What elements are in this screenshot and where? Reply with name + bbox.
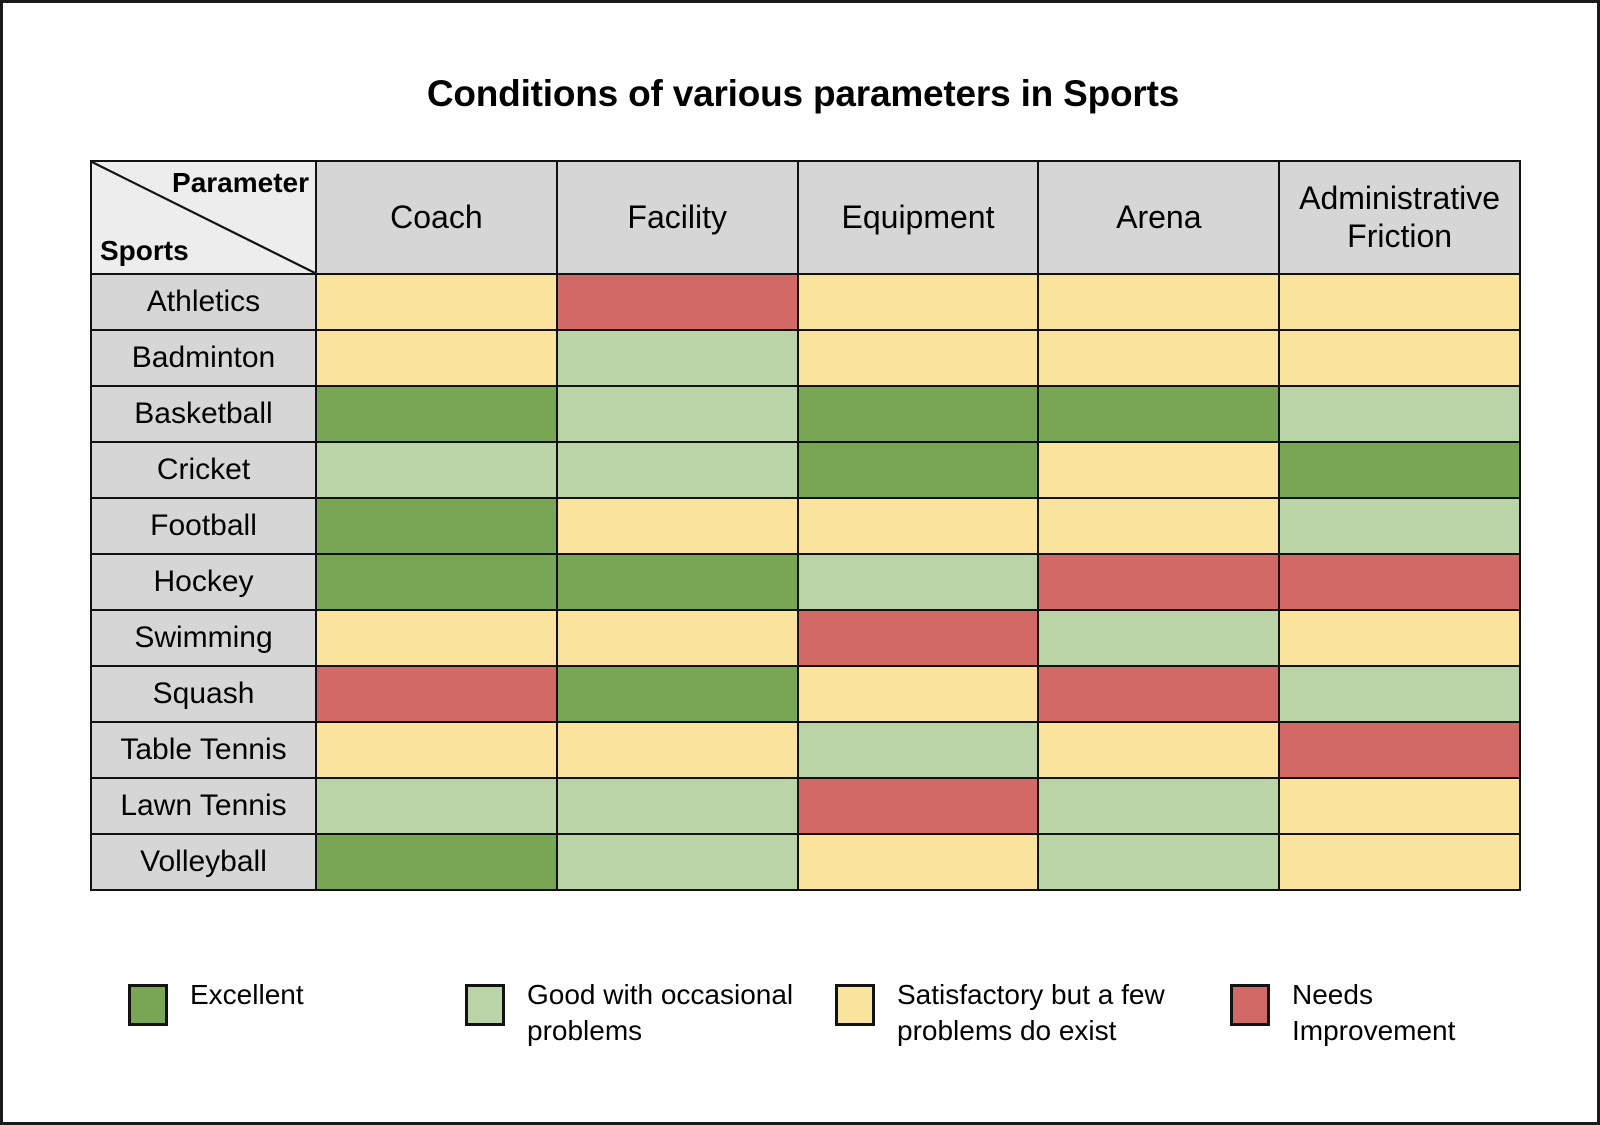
legend-item-satisfactory-but-a-few-problems-do-exist: Satisfactory but a few problems do exist xyxy=(835,963,1195,1049)
cell-cricket-facility xyxy=(557,442,798,498)
conditions-matrix-table: Parameter Sports Coach Facility Equipmen… xyxy=(90,160,1521,891)
legend-swatch-icon xyxy=(835,984,875,1026)
cell-swimming-administrative-friction xyxy=(1279,610,1520,666)
table-row: Badminton xyxy=(91,330,1520,386)
cell-table-tennis-administrative-friction xyxy=(1279,722,1520,778)
cell-swimming-arena xyxy=(1038,610,1279,666)
column-header-equipment: Equipment xyxy=(798,161,1039,274)
cell-hockey-coach xyxy=(316,554,557,610)
cell-athletics-administrative-friction xyxy=(1279,274,1520,330)
legend: ExcellentGood with occasional problemsSa… xyxy=(90,963,1550,1073)
cell-lawn-tennis-equipment xyxy=(798,778,1039,834)
row-header-swimming: Swimming xyxy=(91,610,316,666)
table-row: Table Tennis xyxy=(91,722,1520,778)
legend-item-excellent: Excellent xyxy=(128,963,428,1026)
table-row: Hockey xyxy=(91,554,1520,610)
row-header-football: Football xyxy=(91,498,316,554)
legend-label: Satisfactory but a few problems do exist xyxy=(897,977,1165,1049)
column-axis-label: Parameter xyxy=(172,168,309,197)
cell-hockey-equipment xyxy=(798,554,1039,610)
table-row: Volleyball xyxy=(91,834,1520,890)
cell-football-arena xyxy=(1038,498,1279,554)
cell-table-tennis-coach xyxy=(316,722,557,778)
cell-athletics-equipment xyxy=(798,274,1039,330)
figure-root: Conditions of various parameters in Spor… xyxy=(0,0,1600,1125)
cell-badminton-equipment xyxy=(798,330,1039,386)
cell-squash-equipment xyxy=(798,666,1039,722)
cell-squash-facility xyxy=(557,666,798,722)
column-header-arena: Arena xyxy=(1038,161,1279,274)
cell-lawn-tennis-facility xyxy=(557,778,798,834)
legend-swatch-icon xyxy=(128,984,168,1026)
row-header-basketball: Basketball xyxy=(91,386,316,442)
cell-hockey-administrative-friction xyxy=(1279,554,1520,610)
cell-football-facility xyxy=(557,498,798,554)
legend-label: Good with occasional problems xyxy=(527,977,793,1049)
legend-label: Needs Improvement xyxy=(1292,977,1455,1049)
table-row: Swimming xyxy=(91,610,1520,666)
cell-volleyball-facility xyxy=(557,834,798,890)
page-title: Conditions of various parameters in Spor… xyxy=(3,73,1600,115)
cell-table-tennis-equipment xyxy=(798,722,1039,778)
column-header-facility: Facility xyxy=(557,161,798,274)
legend-item-needs-improvement: Needs Improvement xyxy=(1230,963,1550,1049)
cell-badminton-administrative-friction xyxy=(1279,330,1520,386)
cell-squash-coach xyxy=(316,666,557,722)
cell-cricket-coach xyxy=(316,442,557,498)
row-axis-label: Sports xyxy=(100,236,189,265)
cell-volleyball-equipment xyxy=(798,834,1039,890)
row-header-squash: Squash xyxy=(91,666,316,722)
row-header-table-tennis: Table Tennis xyxy=(91,722,316,778)
cell-cricket-arena xyxy=(1038,442,1279,498)
cell-basketball-administrative-friction xyxy=(1279,386,1520,442)
legend-label: Excellent xyxy=(190,977,304,1013)
corner-axis-header: Parameter Sports xyxy=(91,161,316,274)
cell-swimming-coach xyxy=(316,610,557,666)
cell-volleyball-arena xyxy=(1038,834,1279,890)
row-header-cricket: Cricket xyxy=(91,442,316,498)
cell-football-coach xyxy=(316,498,557,554)
column-header-administrative-friction: Administrative Friction xyxy=(1279,161,1520,274)
row-header-lawn-tennis: Lawn Tennis xyxy=(91,778,316,834)
cell-football-administrative-friction xyxy=(1279,498,1520,554)
cell-squash-arena xyxy=(1038,666,1279,722)
cell-hockey-facility xyxy=(557,554,798,610)
matrix-body: AthleticsBadmintonBasketballCricketFootb… xyxy=(91,274,1520,890)
cell-athletics-facility xyxy=(557,274,798,330)
cell-table-tennis-arena xyxy=(1038,722,1279,778)
cell-lawn-tennis-coach xyxy=(316,778,557,834)
table-row: Cricket xyxy=(91,442,1520,498)
cell-athletics-coach xyxy=(316,274,557,330)
legend-swatch-icon xyxy=(465,984,505,1026)
table-row: Athletics xyxy=(91,274,1520,330)
row-header-athletics: Athletics xyxy=(91,274,316,330)
cell-football-equipment xyxy=(798,498,1039,554)
cell-volleyball-coach xyxy=(316,834,557,890)
row-header-badminton: Badminton xyxy=(91,330,316,386)
column-header-coach: Coach xyxy=(316,161,557,274)
cell-badminton-facility xyxy=(557,330,798,386)
table-row: Lawn Tennis xyxy=(91,778,1520,834)
cell-cricket-administrative-friction xyxy=(1279,442,1520,498)
cell-volleyball-administrative-friction xyxy=(1279,834,1520,890)
legend-swatch-icon xyxy=(1230,984,1270,1026)
matrix-header: Parameter Sports Coach Facility Equipmen… xyxy=(91,161,1520,274)
cell-basketball-facility xyxy=(557,386,798,442)
cell-table-tennis-facility xyxy=(557,722,798,778)
row-header-hockey: Hockey xyxy=(91,554,316,610)
legend-item-good-with-occasional-problems: Good with occasional problems xyxy=(465,963,805,1049)
cell-swimming-facility xyxy=(557,610,798,666)
cell-basketball-arena xyxy=(1038,386,1279,442)
cell-lawn-tennis-administrative-friction xyxy=(1279,778,1520,834)
matrix-header-row: Parameter Sports Coach Facility Equipmen… xyxy=(91,161,1520,274)
cell-swimming-equipment xyxy=(798,610,1039,666)
cell-squash-administrative-friction xyxy=(1279,666,1520,722)
row-header-volleyball: Volleyball xyxy=(91,834,316,890)
table-row: Basketball xyxy=(91,386,1520,442)
cell-lawn-tennis-arena xyxy=(1038,778,1279,834)
table-row: Football xyxy=(91,498,1520,554)
cell-basketball-coach xyxy=(316,386,557,442)
cell-basketball-equipment xyxy=(798,386,1039,442)
cell-badminton-arena xyxy=(1038,330,1279,386)
cell-athletics-arena xyxy=(1038,274,1279,330)
cell-hockey-arena xyxy=(1038,554,1279,610)
table-row: Squash xyxy=(91,666,1520,722)
cell-badminton-coach xyxy=(316,330,557,386)
cell-cricket-equipment xyxy=(798,442,1039,498)
